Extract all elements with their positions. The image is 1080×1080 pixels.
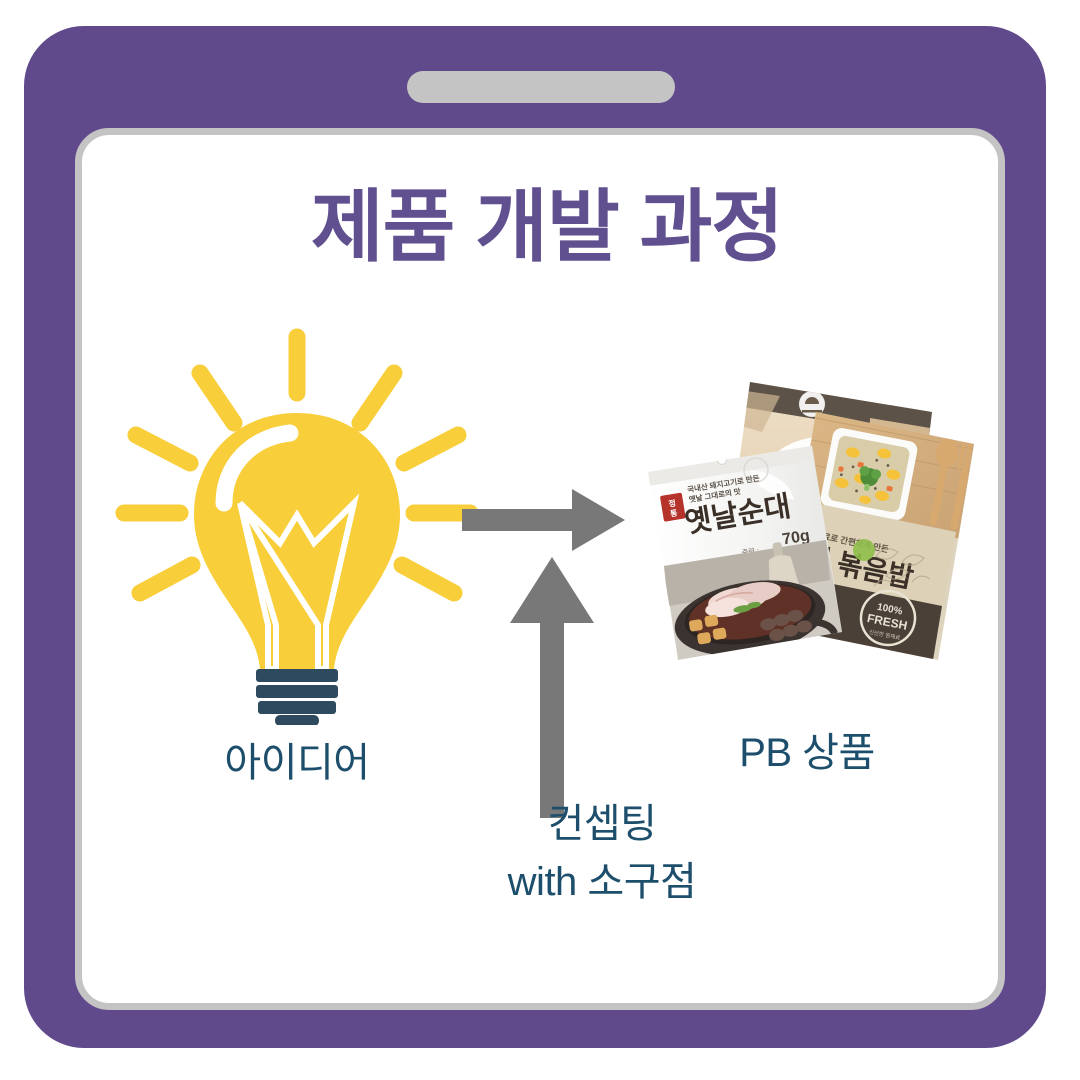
caption-pb-product: PB 상품 (647, 720, 967, 778)
arrow-up-icon (502, 555, 602, 820)
page-title: 제품 개발 과정 (82, 162, 1005, 277)
caption-idea: 아이디어 (82, 730, 512, 788)
clipboard-hanger-bar (407, 71, 675, 103)
product-packages-photo: 바삭하고 속이 꽉 찬 군만두 (630, 360, 980, 705)
lightbulb-icon (112, 325, 482, 725)
paper-card: 제품 개발 과정 (75, 128, 1005, 1010)
caption-concepting-line1: 컨셉팅 (427, 795, 777, 853)
caption-concepting-line2: with 소구점 (427, 853, 777, 911)
sundae-pouch: 정 통 국내산 돼지고기로 만든 옛날 그대로의 맛 옛날순대 (644, 442, 842, 666)
caption-concepting: 컨셉팅 with 소구점 (427, 795, 777, 911)
slide-root: 제품 개발 과정 (0, 0, 1080, 1080)
arrow-right-icon (462, 485, 627, 555)
